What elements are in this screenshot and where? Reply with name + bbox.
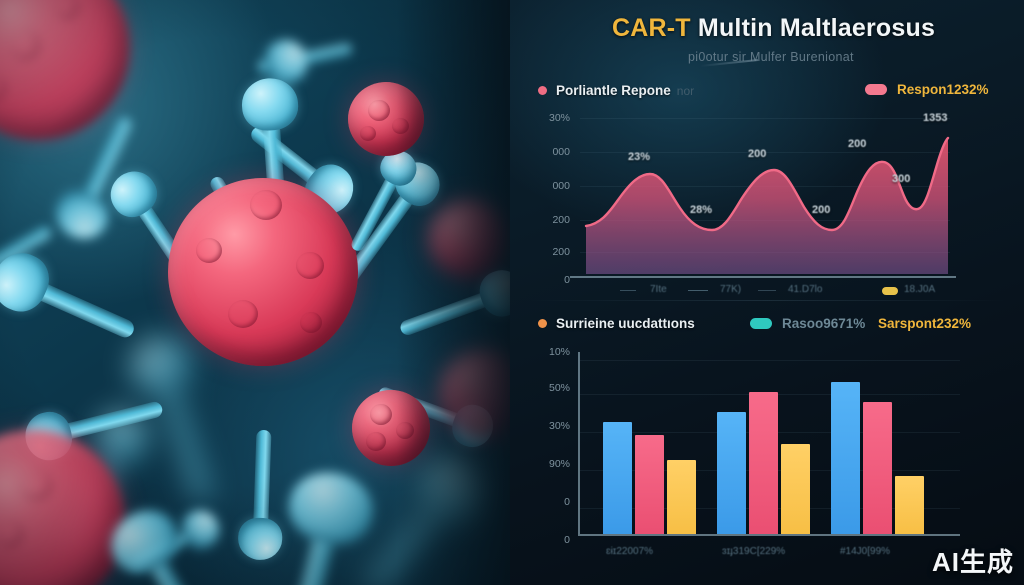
legend-swatch-icon (750, 318, 772, 329)
page-title: CAR-T Multin Maltlaerosus (612, 14, 935, 43)
bar-legend-mid-value: Rasoo9671% (782, 316, 865, 331)
line-point-label: 200 (848, 138, 866, 150)
xtick-dash (620, 290, 636, 291)
analytics-panel: CAR-T Multin Maltlaerosus pi0otur sir Mu… (510, 0, 1024, 585)
photo-vignette (0, 0, 522, 585)
bar-g3-blue[interactable] (831, 382, 860, 534)
bar-ytick-1: 50% (518, 382, 570, 394)
virus-cell-illustration (0, 0, 522, 585)
bar-g2-yellow[interactable] (781, 444, 810, 534)
legend-dot-icon (538, 319, 547, 328)
line-point-label: 300 (892, 173, 910, 185)
bar-g3-yellow[interactable] (895, 476, 924, 534)
legend-dot-icon (538, 86, 547, 95)
bar-ytick-4: 0 (518, 496, 570, 508)
page-title-main: Multin Maltlaerosus (698, 14, 935, 42)
section-divider (528, 300, 1006, 301)
line-point-label: 23% (628, 151, 650, 163)
line-chart-plot (510, 104, 1024, 304)
page-title-accent: CAR-T (612, 14, 691, 42)
line-chart-legend-right[interactable]: Respon1232% (865, 82, 989, 97)
legend-swatch-icon (865, 84, 887, 95)
bar-chart[interactable]: 10% 50% 30% 90% 0 0 (510, 338, 1024, 568)
xtick-dash (688, 290, 708, 291)
line-chart-legend-left[interactable]: Porliantle Repone nor (538, 83, 694, 98)
bar-g2-pink[interactable] (749, 392, 778, 534)
line-chart[interactable]: 30% 000 000 200 200 0 (510, 104, 1024, 304)
bar-g2-blue[interactable] (717, 412, 746, 534)
bar-x-axis (578, 534, 960, 536)
bar-g1-yellow[interactable] (667, 460, 696, 534)
line-point-label: 200 (812, 204, 830, 216)
ai-generated-watermark: AI生成 (932, 542, 1014, 579)
bar-ytick-0: 10% (518, 346, 570, 358)
bar-chart-legend-mid[interactable]: Rasoo9671% (750, 316, 865, 331)
bar-xtick-0: ɛɨɪ22007% (606, 546, 653, 557)
line-x-axis (570, 276, 956, 278)
line-xtick-swatch-icon (882, 287, 898, 295)
bar-g1-pink[interactable] (635, 435, 664, 534)
line-xtick-3: 18.J0A (904, 284, 935, 295)
line-point-label: 1353 (923, 112, 947, 124)
bar-ytick-5: 0 (518, 534, 570, 546)
bar-chart-legend-left[interactable]: Surrieine uucdattıons (538, 316, 695, 331)
bar-ytick-2: 30% (518, 420, 570, 432)
bar-chart-legend-right[interactable]: Sarspont232% (878, 316, 971, 331)
line-legend-value: Respon1232% (897, 82, 989, 97)
line-point-label: 28% (690, 204, 712, 216)
dashboard-screenshot: CAR-T Multin Maltlaerosus pi0otur sir Mu… (0, 0, 1024, 585)
xtick-dash (758, 290, 776, 291)
line-legend-label: Porliantle Repone (556, 83, 671, 98)
bar-legend-label: Surrieine uucdattıons (556, 316, 695, 331)
bar-legend-right-value: Sarspont232% (878, 316, 971, 331)
line-legend-label-muted: nor (677, 84, 694, 98)
bar-g3-pink[interactable] (863, 402, 892, 534)
line-xtick-1: 77K) (720, 284, 741, 295)
bar-xtick-2: #14J0[99% (840, 546, 890, 557)
page-subtitle: pi0otur sir Mulfer Burenionat (688, 50, 854, 64)
bar-plot-area (578, 364, 960, 534)
line-point-label: 200 (748, 148, 766, 160)
bar-ytick-3: 90% (518, 458, 570, 470)
line-xtick-0: 7Ite (650, 284, 667, 295)
bar-xtick-1: ɜɪɟ319C[229% (722, 546, 785, 557)
bar-g1-blue[interactable] (603, 422, 632, 534)
line-xtick-2: 41.D7lo (788, 284, 822, 295)
bar-gridline (580, 360, 960, 361)
